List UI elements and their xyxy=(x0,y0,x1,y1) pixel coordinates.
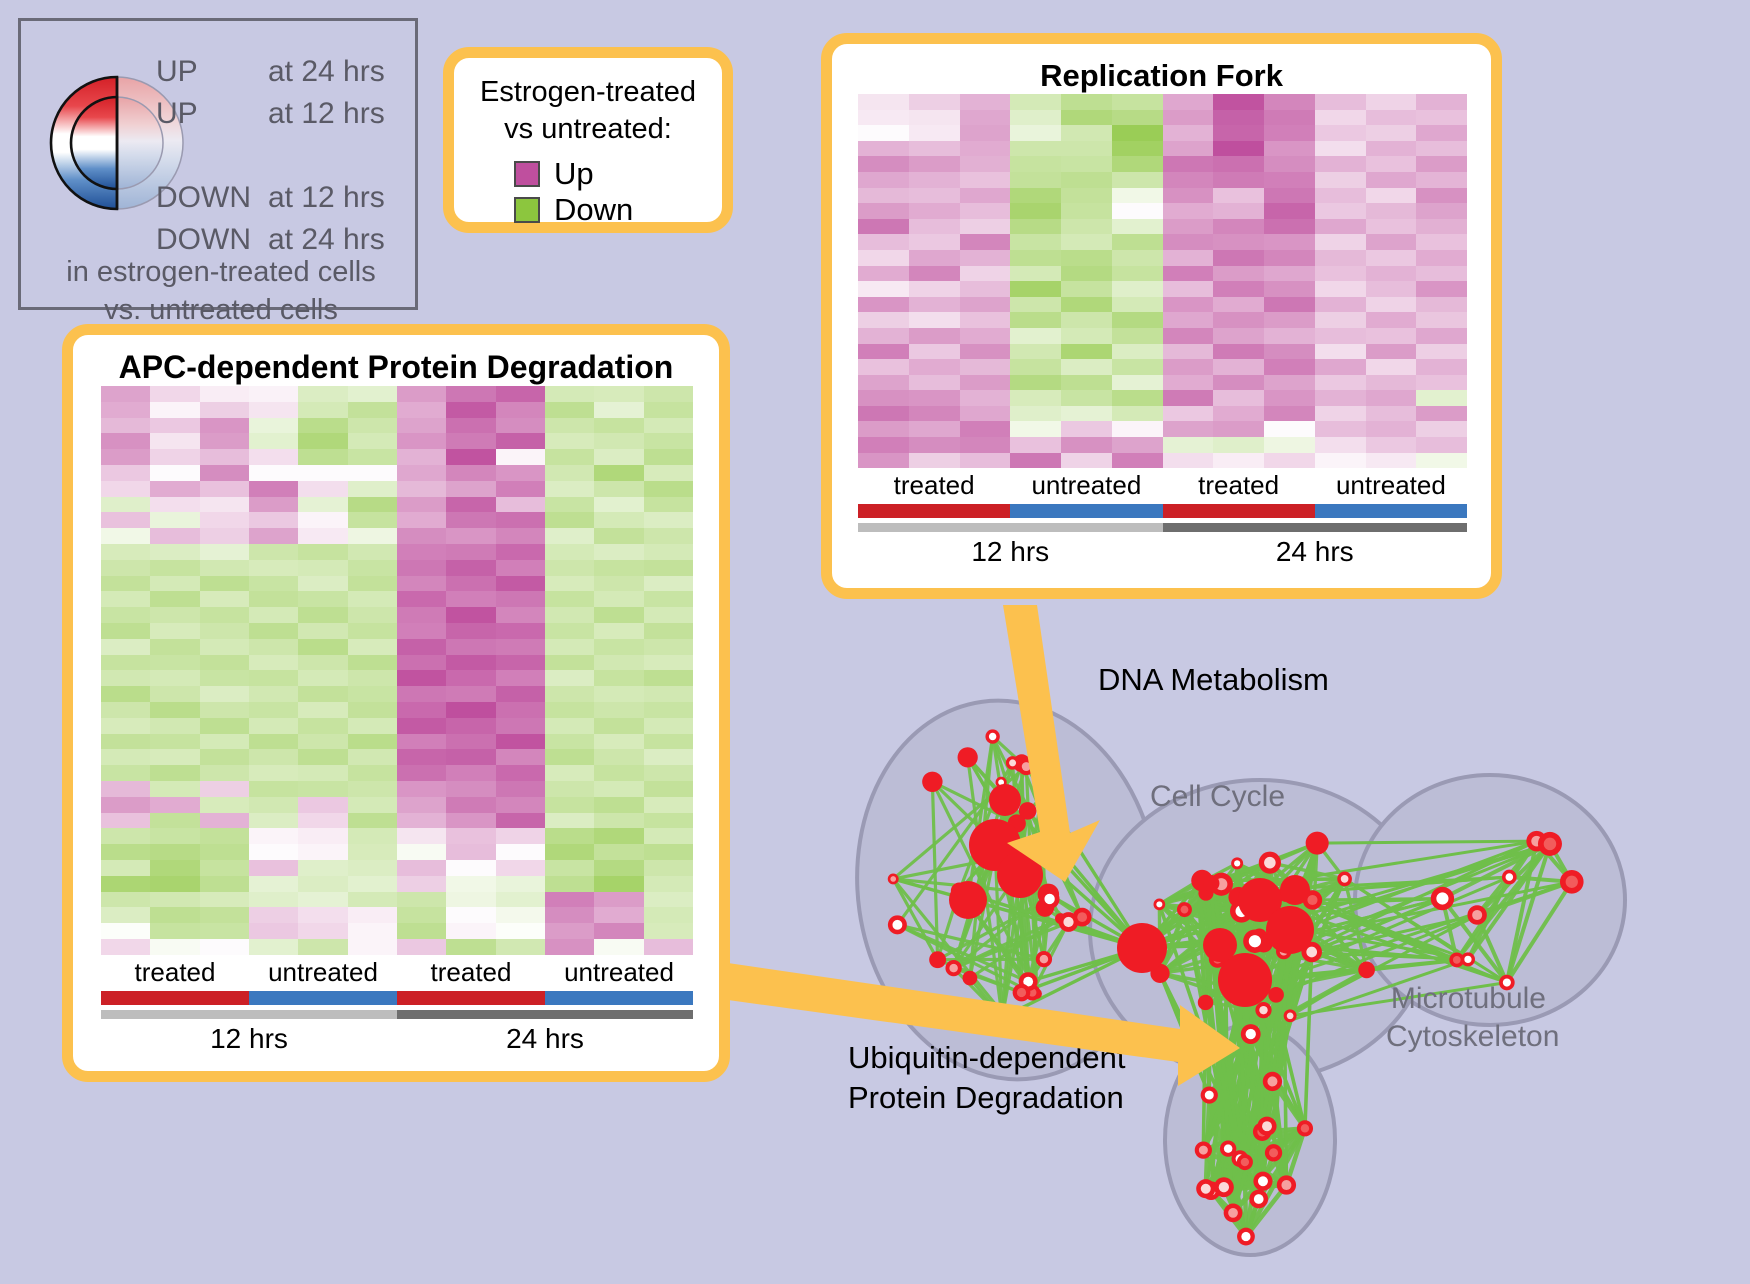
axis-time-labels: 12 hrs 24 hrs xyxy=(101,1023,693,1055)
pathway-network-diagram: DNA Metabolism Cell Cycle Microtubule Cy… xyxy=(790,600,1750,1279)
axis-time-label: 24 hrs xyxy=(1163,536,1468,568)
heatmap-cell xyxy=(1213,312,1264,328)
heatmap-cell xyxy=(1366,312,1417,328)
heatmap-cell xyxy=(200,702,249,718)
heatmap-cell xyxy=(545,433,594,449)
heatmap-cell xyxy=(1010,94,1061,110)
axis-group-label: untreated xyxy=(249,955,397,989)
heatmap-cell xyxy=(1366,250,1417,266)
heatmap-cell xyxy=(594,718,643,734)
network-node xyxy=(994,1010,1010,1026)
heatmap-cell xyxy=(858,156,909,172)
heatmap-cell xyxy=(1213,328,1264,344)
heatmap-cell xyxy=(1416,281,1467,297)
color-key-time: at 24 hrs xyxy=(268,223,385,257)
heatmap-cell xyxy=(858,375,909,391)
heatmap-cell xyxy=(249,765,298,781)
heatmap-cell xyxy=(298,481,347,497)
heatmap-cell xyxy=(1010,359,1061,375)
heatmap-cell xyxy=(348,702,397,718)
legend-label-up: Up xyxy=(554,156,594,192)
heatmap-cell xyxy=(1416,312,1467,328)
heatmap-cell xyxy=(298,892,347,908)
heatmap-cell xyxy=(909,156,960,172)
cluster-label-dna-metabolism: DNA Metabolism xyxy=(1098,662,1329,698)
heatmap-cell xyxy=(1010,421,1061,437)
heatmap-cell xyxy=(298,907,347,923)
heatmap-cell xyxy=(1010,172,1061,188)
heatmap-cell xyxy=(545,686,594,702)
heatmap-cell xyxy=(594,749,643,765)
heatmap-cell xyxy=(545,702,594,718)
heatmap-cell xyxy=(1112,312,1163,328)
heatmap-cell xyxy=(200,528,249,544)
heatmap-cell xyxy=(150,765,199,781)
heatmap-cell xyxy=(1163,94,1214,110)
heatmap-cell xyxy=(101,765,150,781)
network-node-core xyxy=(1234,860,1240,866)
heatmap-cell xyxy=(1112,266,1163,282)
heatmap-cell xyxy=(1366,266,1417,282)
heatmap-cell xyxy=(644,497,693,513)
heatmap-cell xyxy=(200,418,249,434)
heatmap-cell xyxy=(249,560,298,576)
heatmap-cell xyxy=(249,386,298,402)
heatmap-cell xyxy=(397,939,446,955)
heatmap-cell xyxy=(644,639,693,655)
heatmap-cell xyxy=(496,607,545,623)
heatmap-cell xyxy=(1163,281,1214,297)
heatmap-cell xyxy=(298,465,347,481)
heatmap-cell xyxy=(1264,312,1315,328)
heatmap-cell xyxy=(644,923,693,939)
heatmap-cell xyxy=(496,686,545,702)
heatmap-cell xyxy=(644,734,693,750)
heatmap-cell xyxy=(1061,125,1112,141)
heatmap-cell xyxy=(1061,219,1112,235)
network-svg xyxy=(790,600,1750,1279)
heatmap-cell xyxy=(397,576,446,592)
heatmap-cell xyxy=(1010,375,1061,391)
heatmap-cell xyxy=(298,607,347,623)
heatmap-cell xyxy=(1112,141,1163,157)
heatmap-cell xyxy=(1315,141,1366,157)
heatmap-cell xyxy=(150,734,199,750)
heatmap-cell xyxy=(496,892,545,908)
heatmap-cell xyxy=(298,860,347,876)
heatmap-cell xyxy=(446,781,495,797)
heatmap-cell xyxy=(1213,156,1264,172)
heatmap-cell xyxy=(644,670,693,686)
heatmap-cell xyxy=(150,844,199,860)
heatmap-cell xyxy=(858,234,909,250)
heatmap-cell xyxy=(150,481,199,497)
heatmap-cell xyxy=(1264,453,1315,469)
heatmap-cell xyxy=(1163,110,1214,126)
heatmap-cell xyxy=(348,623,397,639)
heatmap-cell xyxy=(496,449,545,465)
heatmap-cell xyxy=(496,433,545,449)
network-node xyxy=(1268,987,1284,1003)
heatmap-cell xyxy=(200,813,249,829)
heatmap-cell xyxy=(101,655,150,671)
heatmap-cell xyxy=(1416,453,1467,469)
network-node-core xyxy=(989,733,996,740)
heatmap-cell xyxy=(1010,203,1061,219)
heatmap-cell xyxy=(858,453,909,469)
heatmap-cell xyxy=(298,813,347,829)
heatmap-cell xyxy=(1315,203,1366,219)
heatmap-cell xyxy=(1366,234,1417,250)
heatmap-cell xyxy=(348,465,397,481)
heatmap-cell xyxy=(545,528,594,544)
network-node xyxy=(1358,962,1375,979)
network-node xyxy=(1306,832,1329,855)
heatmap-cell xyxy=(348,686,397,702)
heatmap-cell xyxy=(1010,141,1061,157)
heatmap-cell xyxy=(150,876,199,892)
heatmap-cell xyxy=(496,560,545,576)
axis-time-label: 12 hrs xyxy=(101,1023,397,1055)
heatmap-cell xyxy=(644,591,693,607)
axis-group-label: untreated xyxy=(545,955,693,989)
heatmap-cell xyxy=(1112,453,1163,469)
heatmap-cell xyxy=(1264,94,1315,110)
heatmap-cell xyxy=(101,418,150,434)
heatmap-cell xyxy=(960,453,1011,469)
heatmap-cell xyxy=(249,828,298,844)
heatmap-cell xyxy=(200,402,249,418)
heatmap-cell xyxy=(1010,188,1061,204)
heatmap-cell xyxy=(1213,281,1264,297)
heatmap-cell xyxy=(545,639,594,655)
heatmap-cell xyxy=(594,591,643,607)
heatmap-cell xyxy=(397,386,446,402)
heatmap-cell xyxy=(1213,141,1264,157)
heatmap-cell xyxy=(1061,110,1112,126)
heatmap-cell xyxy=(496,528,545,544)
heatmap-cell xyxy=(496,418,545,434)
heatmap-cell xyxy=(298,686,347,702)
heatmap-cell xyxy=(1366,359,1417,375)
heatmap-cell xyxy=(644,402,693,418)
heatmap-cell xyxy=(644,576,693,592)
axis-group-label: treated xyxy=(397,955,545,989)
heatmap-cell xyxy=(150,544,199,560)
heatmap-cell xyxy=(1315,390,1366,406)
heatmap-cell xyxy=(644,418,693,434)
heatmap-cell xyxy=(1213,390,1264,406)
heatmap-cell xyxy=(150,892,199,908)
heatmap-cell xyxy=(1010,250,1061,266)
heatmap-cell xyxy=(909,359,960,375)
heatmap-cell xyxy=(446,481,495,497)
heatmap-cell xyxy=(1112,203,1163,219)
heatmap-cell xyxy=(249,702,298,718)
heatmap-cell xyxy=(1010,406,1061,422)
heatmap-cell xyxy=(909,203,960,219)
network-node-core xyxy=(1224,1144,1232,1152)
heatmap-cell xyxy=(1416,125,1467,141)
heatmap-cell xyxy=(545,860,594,876)
heatmap-cell xyxy=(909,312,960,328)
network-node-core xyxy=(1254,1194,1264,1204)
heatmap-cell xyxy=(150,907,199,923)
heatmap-cell xyxy=(644,892,693,908)
heatmap-cell xyxy=(249,860,298,876)
heatmap-cell xyxy=(200,939,249,955)
heatmap-cell xyxy=(960,437,1011,453)
heatmap-cell xyxy=(1112,156,1163,172)
cluster-label-text: DNA Metabolism xyxy=(1098,662,1329,697)
heatmap-cell xyxy=(1061,281,1112,297)
heatmap-cell xyxy=(150,386,199,402)
axis-group-label: treated xyxy=(1163,468,1315,502)
heatmap-cell xyxy=(496,512,545,528)
heatmap-cell xyxy=(1163,390,1214,406)
heatmap-cell xyxy=(1112,172,1163,188)
heatmap-cell xyxy=(298,765,347,781)
heatmap-cell xyxy=(644,560,693,576)
heatmap-cell xyxy=(348,591,397,607)
heatmap-cell xyxy=(150,465,199,481)
heatmap-cell xyxy=(101,623,150,639)
heatmap-cell xyxy=(594,528,643,544)
heatmap-cell xyxy=(1366,281,1417,297)
heatmap-cell xyxy=(348,797,397,813)
network-node-core xyxy=(1307,895,1317,905)
heatmap-cell xyxy=(909,125,960,141)
heatmap-cell xyxy=(1061,172,1112,188)
heatmap-cell xyxy=(858,312,909,328)
heatmap-cell xyxy=(249,718,298,734)
network-node-core xyxy=(1301,1124,1309,1132)
network-node-core xyxy=(1156,901,1162,907)
color-key-label: DOWN xyxy=(156,181,268,215)
network-node-core xyxy=(1269,1148,1278,1157)
heatmap-cell xyxy=(200,734,249,750)
heatmap-cell xyxy=(200,892,249,908)
heatmap-cell xyxy=(446,433,495,449)
heatmap-cell xyxy=(249,465,298,481)
heatmap-cell xyxy=(397,418,446,434)
network-node xyxy=(1203,928,1237,962)
heatmap-cell xyxy=(249,639,298,655)
heatmap-cell xyxy=(348,765,397,781)
heatmap-cell xyxy=(1163,453,1214,469)
heatmap-cell xyxy=(496,702,545,718)
heatmap-cell xyxy=(644,765,693,781)
heatmap-cell xyxy=(348,813,397,829)
color-key-time: at 24 hrs xyxy=(268,55,385,89)
heatmap-cell xyxy=(1264,141,1315,157)
figure-canvas: UP at 24 hrs UP at 12 hrs DOWN at 12 hrs… xyxy=(0,0,1750,1279)
heatmap-cell xyxy=(348,734,397,750)
heatmap-cell xyxy=(960,219,1011,235)
heatmap-cell xyxy=(101,591,150,607)
heatmap-cell xyxy=(1416,110,1467,126)
heatmap-cell xyxy=(1213,250,1264,266)
heatmap-cell xyxy=(446,655,495,671)
heatmap-cell xyxy=(348,497,397,513)
heatmap-cell xyxy=(594,781,643,797)
heatmap-cell xyxy=(1315,375,1366,391)
heatmap-cell xyxy=(644,828,693,844)
heatmap-cell xyxy=(348,718,397,734)
heatmap-cell xyxy=(397,860,446,876)
heatmap-cell xyxy=(1061,375,1112,391)
heatmap-cell xyxy=(298,670,347,686)
heatmap-cell xyxy=(298,749,347,765)
heatmap-cell xyxy=(1112,406,1163,422)
network-node xyxy=(989,784,1021,816)
heatmap-cell xyxy=(446,576,495,592)
heatmap-cell xyxy=(101,449,150,465)
heatmap-cell xyxy=(397,465,446,481)
heatmap-cell xyxy=(1315,453,1366,469)
heatmap-cell xyxy=(909,344,960,360)
heatmap-cell xyxy=(397,639,446,655)
axis-time-labels: 12 hrs 24 hrs xyxy=(858,536,1467,568)
network-node xyxy=(922,772,942,792)
heatmap-cell xyxy=(909,281,960,297)
heatmap-cell xyxy=(545,512,594,528)
heatmap-cell xyxy=(496,576,545,592)
heatmap-cell xyxy=(1315,250,1366,266)
heatmap-cell xyxy=(644,797,693,813)
heatmap-cell xyxy=(348,828,397,844)
heatmap-cell xyxy=(200,433,249,449)
heatmap-cell xyxy=(397,765,446,781)
heatmap-cell xyxy=(496,591,545,607)
heatmap-cell xyxy=(200,639,249,655)
heatmap-cell xyxy=(1163,328,1214,344)
heatmap-cell xyxy=(446,512,495,528)
network-node-core xyxy=(890,876,896,882)
heatmap-cell xyxy=(960,94,1011,110)
heatmap-cell xyxy=(545,623,594,639)
heatmap-cell xyxy=(858,94,909,110)
legend-items: Up Down xyxy=(454,156,722,228)
heatmap-cell xyxy=(298,781,347,797)
heatmap-cell xyxy=(644,907,693,923)
network-node-core xyxy=(1259,1006,1267,1014)
heatmap-cell xyxy=(594,923,643,939)
axis-group-colorbar xyxy=(101,991,693,1005)
heatmap-cell xyxy=(594,512,643,528)
heatmap-cell xyxy=(1416,359,1467,375)
heatmap-cell xyxy=(446,670,495,686)
heatmap-cell xyxy=(1366,297,1417,313)
color-key-label: UP xyxy=(156,97,268,131)
heatmap-cell xyxy=(545,655,594,671)
heatmap-cell xyxy=(200,797,249,813)
heatmap-cell xyxy=(960,375,1011,391)
network-node-core xyxy=(1017,988,1026,997)
heatmap-cell xyxy=(446,402,495,418)
heatmap-cell xyxy=(1416,406,1467,422)
network-node-core xyxy=(1249,935,1261,947)
network-node-core xyxy=(1181,906,1189,914)
cluster-label-text: Protein Degradation xyxy=(848,1078,1126,1118)
heatmap-cell xyxy=(545,465,594,481)
heatmap-cell xyxy=(101,402,150,418)
heatmap-cell xyxy=(150,560,199,576)
heatmap-cell xyxy=(909,453,960,469)
heatmap-cell xyxy=(249,655,298,671)
axis-time-swatch xyxy=(101,1010,397,1019)
heatmap-cell xyxy=(1061,437,1112,453)
network-node-core xyxy=(1241,1232,1250,1241)
color-key-row: UP at 24 hrs xyxy=(156,51,385,93)
color-key-row: UP at 12 hrs xyxy=(156,93,385,135)
heatmap-cell xyxy=(101,512,150,528)
heatmap-cell xyxy=(594,576,643,592)
heatmap-cell xyxy=(1010,234,1061,250)
axis-group-colorbar xyxy=(858,504,1467,518)
heatmap-cell xyxy=(446,734,495,750)
heatmap-cell xyxy=(101,497,150,513)
heatmap-cell xyxy=(545,844,594,860)
color-key-caption: in estrogen-treated cells vs. untreated … xyxy=(21,253,421,329)
heatmap-cell xyxy=(200,907,249,923)
heatmap-cell xyxy=(101,433,150,449)
axis-time-label: 24 hrs xyxy=(397,1023,693,1055)
heatmap-cell xyxy=(909,297,960,313)
heatmap-cell xyxy=(298,497,347,513)
heatmap-cell xyxy=(1061,328,1112,344)
heatmap-cell xyxy=(1010,390,1061,406)
heatmap-cell xyxy=(644,386,693,402)
heatmap-cell xyxy=(249,528,298,544)
heatmap-cell xyxy=(101,386,150,402)
heatmap-cell xyxy=(1112,188,1163,204)
heatmap-cell xyxy=(1112,328,1163,344)
network-node xyxy=(1203,875,1219,891)
color-key-time: at 12 hrs xyxy=(268,181,385,215)
heatmap-cell xyxy=(1112,375,1163,391)
heatmap-cell xyxy=(101,828,150,844)
heatmap-cell xyxy=(200,749,249,765)
heatmap-cell xyxy=(1213,234,1264,250)
heatmap-cell xyxy=(200,876,249,892)
legend-title-line2: vs untreated: xyxy=(454,111,722,148)
heatmap-cell xyxy=(545,749,594,765)
apc-degradation-title: APC-dependent Protein Degradation xyxy=(73,349,719,386)
axis-group-swatch xyxy=(101,991,249,1005)
heatmap-cell xyxy=(1061,344,1112,360)
heatmap-cell xyxy=(545,670,594,686)
heatmap-cell xyxy=(150,781,199,797)
heatmap-cell xyxy=(1264,406,1315,422)
network-node-core xyxy=(1281,1180,1291,1190)
heatmap-cell xyxy=(1010,125,1061,141)
heatmap-cell xyxy=(1315,344,1366,360)
heatmap-cell xyxy=(960,312,1011,328)
heatmap-cell xyxy=(298,639,347,655)
heatmap-cell xyxy=(348,670,397,686)
heatmap-cell xyxy=(348,576,397,592)
heatmap-cell xyxy=(249,876,298,892)
heatmap-cell xyxy=(496,844,545,860)
heatmap-cell xyxy=(397,497,446,513)
legend-swatch-up-icon xyxy=(514,161,540,187)
heatmap-cell xyxy=(1213,94,1264,110)
heatmap-cell xyxy=(1163,406,1214,422)
heatmap-cell xyxy=(101,544,150,560)
heatmap-cell xyxy=(1315,359,1366,375)
heatmap-cell xyxy=(298,655,347,671)
